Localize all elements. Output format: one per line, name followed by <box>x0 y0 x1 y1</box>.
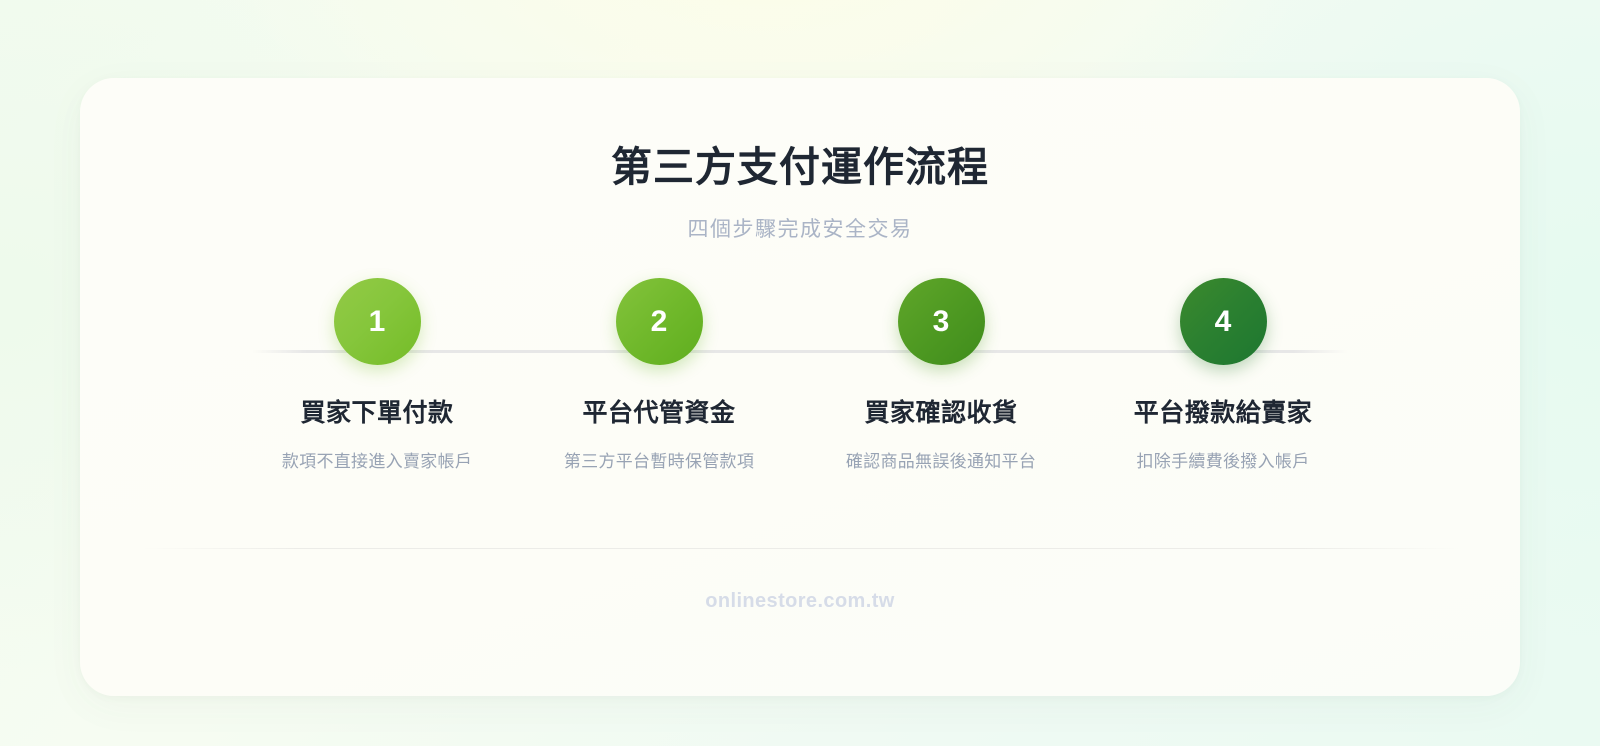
step-description: 款項不直接進入賣家帳戶 <box>282 447 472 472</box>
process-flow: 1 買家下單付款 款項不直接進入賣家帳戶 2 平台代管資金 第三方平台暫時保管款… <box>80 278 1520 528</box>
step-title: 平台代管資金 <box>582 393 735 429</box>
step-number-badge: 1 <box>334 278 421 365</box>
flow-step-2: 2 平台代管資金 第三方平台暫時保管款項 <box>534 278 784 472</box>
step-number-badge: 3 <box>898 278 985 365</box>
page-subtitle: 四個步驟完成安全交易 <box>80 213 1520 243</box>
page-title: 第三方支付運作流程 <box>80 144 1520 191</box>
step-title: 買家下單付款 <box>300 393 453 429</box>
step-description: 第三方平台暫時保管款項 <box>564 447 754 472</box>
step-title: 平台撥款給賣家 <box>1134 393 1313 429</box>
infographic-card: 第三方支付運作流程 四個步驟完成安全交易 1 買家下單付款 款項不直接進入賣家帳… <box>80 78 1520 696</box>
flow-step-3: 3 買家確認收貨 確認商品無誤後通知平台 <box>816 278 1066 472</box>
flow-steps-row: 1 買家下單付款 款項不直接進入賣家帳戶 2 平台代管資金 第三方平台暫時保管款… <box>252 278 1348 472</box>
footer-divider <box>142 548 1458 549</box>
footer-brand: onlinestore.com.tw <box>80 590 1520 613</box>
step-number-badge: 4 <box>1180 278 1267 365</box>
step-description: 確認商品無誤後通知平台 <box>846 447 1036 472</box>
flow-step-4: 4 平台撥款給賣家 扣除手續費後撥入帳戶 <box>1098 278 1348 472</box>
flow-step-1: 1 買家下單付款 款項不直接進入賣家帳戶 <box>252 278 502 472</box>
step-description: 扣除手續費後撥入帳戶 <box>1137 447 1310 472</box>
step-number-badge: 2 <box>616 278 703 365</box>
step-title: 買家確認收貨 <box>864 393 1017 429</box>
header-block: 第三方支付運作流程 四個步驟完成安全交易 <box>80 78 1520 243</box>
